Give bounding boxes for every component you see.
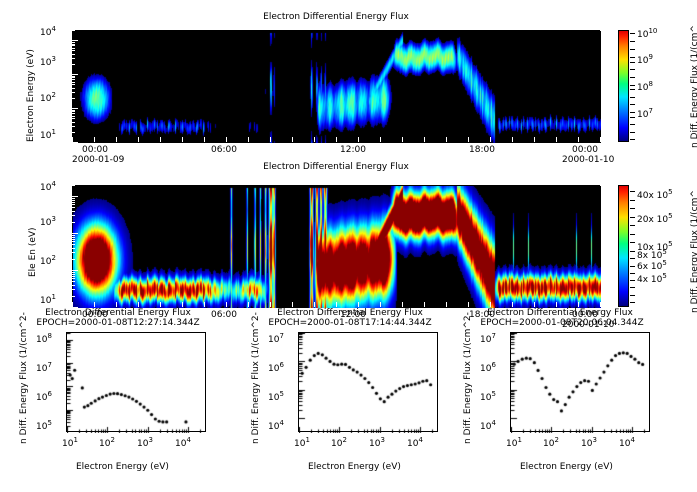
spectrum-3-ytick-1: 104 — [480, 422, 496, 432]
axis-tick — [72, 276, 75, 277]
axis-tick — [72, 48, 75, 49]
axis-tick — [490, 137, 491, 142]
axis-tick — [72, 58, 75, 59]
axis-tick — [72, 110, 75, 111]
spectrum-1-ylabel: n Diff. Energy Flux (1/(cm^2- — [19, 312, 29, 444]
axis-tick — [72, 244, 75, 245]
panel-middle-cbtick-5: 6x 105 — [637, 262, 667, 272]
axis-tick — [578, 137, 579, 142]
colorbar-tick — [630, 132, 635, 133]
colorbar-tick — [630, 33, 635, 34]
axis-tick — [446, 137, 447, 142]
axis-tick — [72, 88, 75, 89]
axis-tick — [72, 44, 75, 45]
axis-tick — [160, 137, 161, 142]
colorbar-tick — [630, 49, 635, 50]
colorbar-tick — [630, 97, 635, 98]
panel-top-xtick-1: 00:00 — [82, 145, 108, 155]
colorbar-tick — [630, 242, 635, 243]
axis-tick — [72, 82, 75, 83]
spectrum-3-xtick-4: 104 — [619, 439, 635, 449]
axis-tick — [72, 270, 78, 271]
axis-tick — [72, 211, 75, 212]
axis-tick — [556, 137, 557, 142]
axis-tick — [72, 285, 75, 286]
panel-middle-cbtick-2: 20x 105 — [637, 215, 673, 225]
axis-tick — [116, 137, 117, 142]
spectrum-2-xtick-4: 104 — [407, 439, 423, 449]
spectrum-3-xtick-2: 102 — [543, 439, 559, 449]
colorbar-tick — [630, 62, 635, 63]
axis-tick — [72, 241, 75, 242]
spectrum-2-ylabel: n Diff. Energy Flux (1/(cm^2- — [251, 312, 261, 444]
colorbar-tick — [630, 77, 635, 78]
axis-tick — [402, 137, 403, 142]
panel-middle-ytick-4: 104 — [40, 183, 56, 193]
axis-tick — [358, 137, 359, 142]
axis-tick — [468, 137, 469, 142]
spectrum-1-scatter — [67, 333, 207, 433]
axis-tick — [72, 207, 75, 208]
spectrum-3-ytick-3: 106 — [480, 364, 496, 374]
panel-top-colorbar-label: n Diff. Energy Flux (1/(cm^ — [690, 25, 697, 148]
panel-top-ylabel: Electron Energy (eV) — [26, 49, 36, 142]
colorbar-tick — [630, 191, 635, 192]
axis-tick — [72, 296, 75, 297]
colorbar-tick — [630, 200, 635, 201]
axis-tick — [72, 200, 75, 201]
axis-tick — [534, 137, 535, 142]
axis-tick — [72, 235, 75, 236]
axis-tick — [72, 202, 75, 203]
panel-middle-plot-area — [72, 185, 600, 307]
panel-top-xtick-3: 12:00 — [340, 145, 366, 155]
panel-top-ytick-2: 102 — [40, 94, 56, 104]
axis-tick — [72, 111, 75, 112]
panel-top-cbtick-3: 109 — [637, 56, 653, 66]
colorbar-tick — [630, 85, 635, 86]
spectrum-1-plot-area — [66, 332, 206, 432]
axis-tick — [512, 137, 513, 142]
axis-tick — [72, 252, 75, 253]
panel-top-xtick-2: 06:00 — [211, 145, 237, 155]
axis-tick — [226, 137, 227, 142]
colorbar-tick — [630, 266, 635, 267]
spectrum-3-scatter — [511, 333, 651, 433]
spectrum-3-xlabel: Electron Energy (eV) — [520, 462, 613, 472]
axis-tick — [72, 272, 75, 273]
axis-tick — [94, 137, 95, 142]
axis-tick — [248, 137, 249, 142]
axis-tick — [424, 137, 425, 142]
axis-tick — [72, 122, 75, 123]
axis-tick — [72, 289, 75, 290]
spectrum-2-xtick-2: 102 — [331, 439, 347, 449]
axis-tick — [72, 40, 78, 41]
axis-tick — [336, 137, 337, 142]
axis-tick — [72, 113, 75, 114]
panel-top-ytick-1: 101 — [40, 131, 56, 141]
axis-tick — [314, 137, 315, 142]
axis-tick — [204, 137, 205, 142]
spectrum-2-ytick-1: 104 — [268, 422, 284, 432]
panel-middle-ytick-3: 103 — [40, 218, 56, 228]
spectrum-2-ytick-4: 107 — [268, 335, 284, 345]
axis-tick — [600, 137, 601, 142]
axis-tick — [72, 42, 75, 43]
colorbar-tick — [630, 225, 635, 226]
axis-tick — [72, 98, 75, 99]
panel-top-spectrogram-image — [73, 31, 601, 143]
spectrum-panel-2: Electron Differential Energy Flux EPOCH=… — [232, 300, 464, 492]
spectrum-1-ytick-3: 107 — [36, 364, 52, 374]
spectrum-2-title: Electron Differential Energy Flux — [250, 308, 450, 318]
colorbar-tick — [630, 280, 635, 281]
panel-top-title: Electron Differential Energy Flux — [72, 12, 600, 22]
axis-tick — [72, 79, 75, 80]
axis-tick — [72, 92, 75, 93]
colorbar-tick — [630, 273, 635, 274]
axis-tick — [72, 108, 78, 109]
axis-tick — [72, 185, 75, 186]
axis-tick — [72, 126, 75, 127]
axis-tick — [72, 45, 75, 46]
axis-tick — [72, 142, 78, 143]
panel-top-cbtick-4: 1010 — [637, 30, 657, 40]
axis-tick — [72, 233, 78, 234]
spectrum-3-ytick-4: 107 — [480, 335, 496, 345]
spectrogram-panel-top: Electron Differential Energy Flux Electr… — [0, 0, 697, 170]
panel-top-ytick-4: 104 — [40, 28, 56, 38]
panel-top-colorbar — [618, 30, 629, 142]
panel-middle-ylabel: Ele En (eV) — [28, 227, 38, 277]
axis-tick — [72, 50, 75, 51]
axis-tick — [72, 64, 75, 65]
spectrum-3-xtick-3: 103 — [581, 439, 597, 449]
spectrum-panel-3: Electron Differential Energy Flux EPOCH=… — [452, 300, 697, 492]
spectrum-1-xlabel: Electron Energy (eV) — [76, 462, 169, 472]
axis-tick — [72, 274, 75, 275]
spectrum-3-ytick-2: 105 — [480, 393, 496, 403]
axis-tick — [72, 118, 75, 119]
axis-tick — [72, 239, 75, 240]
panel-middle-colorbar-label: n Diff. Energy Flux (1/(cm^ — [690, 190, 697, 313]
spectrum-2-xtick-1: 101 — [294, 439, 310, 449]
axis-tick — [72, 77, 75, 78]
axis-tick — [72, 248, 75, 249]
spectrum-3-ylabel: n Diff. Energy Flux (1/(cm^2- — [463, 312, 473, 444]
spectrum-1-ytick-2: 106 — [36, 393, 52, 403]
spectrum-2-subtitle: EPOCH=2000-01-08T17:14:44.344Z — [240, 318, 460, 328]
spectrum-2-scatter — [299, 333, 439, 433]
colorbar-tick — [630, 234, 635, 235]
panel-middle-cbtick-6: 4x 105 — [637, 275, 667, 285]
colorbar-tick — [630, 139, 635, 140]
panel-top-xtick-4: 18:00 — [469, 145, 495, 155]
spectrum-panel-1: Electron Differential Energy Flux EPOCH=… — [0, 300, 232, 492]
colorbar-tick — [630, 112, 635, 113]
panel-middle-cbtick-1: 40x 105 — [637, 191, 673, 201]
axis-tick — [72, 74, 78, 75]
axis-tick — [72, 132, 75, 133]
spectrum-1-xtick-1: 101 — [62, 439, 78, 449]
axis-tick — [72, 54, 75, 55]
panel-top-plot-area — [72, 30, 600, 142]
colorbar-tick — [630, 69, 635, 70]
colorbar-tick — [630, 295, 635, 296]
axis-tick — [380, 137, 381, 142]
colorbar-tick — [630, 258, 635, 259]
axis-tick — [72, 84, 75, 85]
colorbar-tick — [630, 57, 635, 58]
spectrum-2-xtick-3: 103 — [369, 439, 385, 449]
spectrum-1-xtick-2: 102 — [99, 439, 115, 449]
colorbar-tick — [630, 217, 635, 218]
axis-tick — [182, 137, 183, 142]
axis-tick — [72, 222, 75, 223]
panel-top-cbtick-2: 108 — [637, 83, 653, 93]
colorbar-tick — [630, 251, 635, 252]
spectrum-1-ytick-1: 105 — [36, 422, 52, 432]
panel-top-xtick-5: 00:00 — [572, 145, 598, 155]
axis-tick — [270, 137, 271, 142]
axis-tick — [72, 196, 78, 197]
spectrum-3-xtick-1: 101 — [506, 439, 522, 449]
spectrum-1-subtitle: EPOCH=2000-01-08T12:27:14.344Z — [8, 318, 228, 328]
panel-middle-spectrogram-image — [73, 186, 601, 308]
axis-tick — [138, 137, 139, 142]
spectrum-2-plot-area — [298, 332, 438, 432]
axis-tick — [72, 30, 75, 31]
axis-tick — [72, 237, 75, 238]
panel-middle-title: Electron Differential Energy Flux — [72, 162, 600, 172]
spectrum-1-xtick-3: 103 — [137, 439, 153, 449]
spectrogram-panel-middle: Electron Differential Energy Flux Ele En… — [0, 165, 697, 315]
axis-tick — [72, 76, 75, 77]
axis-tick — [72, 278, 75, 279]
colorbar-tick — [630, 41, 635, 42]
colorbar-tick — [630, 208, 635, 209]
spectrum-2-xlabel: Electron Energy (eV) — [308, 462, 401, 472]
colorbar-tick — [630, 104, 635, 105]
axis-tick — [72, 204, 75, 205]
panel-middle-ytick-2: 102 — [40, 257, 56, 267]
spectrum-1-title: Electron Differential Energy Flux — [18, 308, 218, 318]
spectrum-2-ytick-2: 105 — [268, 393, 284, 403]
colorbar-tick — [630, 287, 635, 288]
spectrum-3-title: Electron Differential Energy Flux — [460, 308, 660, 318]
colorbar-tick — [630, 89, 635, 90]
spectrum-1-ytick-4: 108 — [36, 335, 52, 345]
spectrum-3-plot-area — [510, 332, 650, 432]
axis-tick — [72, 198, 75, 199]
spectrum-2-ytick-3: 106 — [268, 364, 284, 374]
panel-middle-colorbar — [618, 185, 629, 307]
axis-tick — [72, 259, 75, 260]
axis-tick — [72, 116, 75, 117]
panel-top-ytick-3: 103 — [40, 58, 56, 68]
axis-tick — [72, 281, 75, 282]
colorbar-tick — [630, 124, 635, 125]
panel-top-cbtick-1: 107 — [637, 110, 653, 120]
colorbar-tick — [630, 117, 635, 118]
axis-tick — [72, 215, 75, 216]
spectrum-3-subtitle: EPOCH=2000-01-08T20:06:04.344Z — [452, 318, 672, 328]
spectrum-1-xtick-4: 104 — [175, 439, 191, 449]
axis-tick — [292, 137, 293, 142]
